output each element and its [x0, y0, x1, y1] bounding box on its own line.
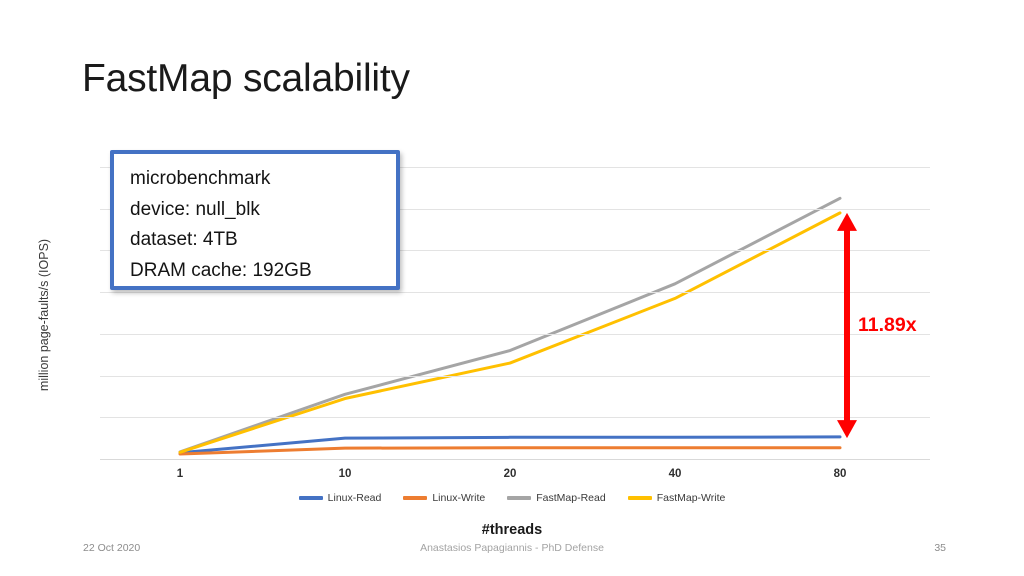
gridline: [100, 334, 930, 335]
callout-line: device: null_blk: [130, 195, 396, 226]
x-tick-label: 1: [177, 468, 183, 480]
footer-subtitle: Anastasios Papagiannis - PhD Defense: [0, 542, 1024, 554]
gridline: [100, 417, 930, 418]
gridline: [100, 376, 930, 377]
y-axis-title: million page-faults/s (IOPS): [33, 170, 55, 460]
legend-label: FastMap-Write: [657, 492, 726, 504]
footer-page-number: 35: [934, 542, 946, 554]
series-line: [180, 448, 840, 454]
chart-legend: Linux-ReadLinux-WriteFastMap-ReadFastMap…: [0, 492, 1024, 504]
legend-swatch: [628, 496, 652, 499]
legend-label: FastMap-Read: [536, 492, 605, 504]
callout-box: microbenchmark device: null_blk dataset:…: [110, 150, 400, 290]
arrow-head-up: [837, 213, 857, 231]
x-tick-label: 80: [834, 468, 847, 480]
callout-line: dataset: 4TB: [130, 225, 396, 256]
x-tick-label: 40: [669, 468, 682, 480]
legend-label: Linux-Read: [328, 492, 382, 504]
legend-swatch: [507, 496, 531, 499]
legend-item[interactable]: FastMap-Write: [628, 492, 726, 504]
legend-item[interactable]: Linux-Read: [299, 492, 382, 504]
legend-swatch: [299, 496, 323, 499]
callout-line: microbenchmark: [130, 164, 396, 195]
legend-label: Linux-Write: [432, 492, 485, 504]
legend-item[interactable]: Linux-Write: [403, 492, 485, 504]
gridline: [100, 459, 930, 460]
arrow-head-down: [837, 420, 857, 438]
x-axis-ticks: 110204080: [100, 468, 930, 484]
slide-canvas: FastMap scalability million page-faults/…: [0, 0, 1024, 576]
gridline: [100, 292, 930, 293]
speedup-label: 11.89x: [858, 314, 917, 337]
speedup-annotation: 11.89x: [830, 200, 960, 450]
x-tick-label: 20: [504, 468, 517, 480]
y-axis-title-text: million page-faults/s (IOPS): [37, 239, 51, 391]
legend-swatch: [403, 496, 427, 499]
x-tick-label: 10: [339, 468, 352, 480]
callout-line: DRAM cache: 192GB: [130, 256, 396, 287]
x-axis-title: #threads: [0, 522, 1024, 538]
legend-item[interactable]: FastMap-Read: [507, 492, 605, 504]
